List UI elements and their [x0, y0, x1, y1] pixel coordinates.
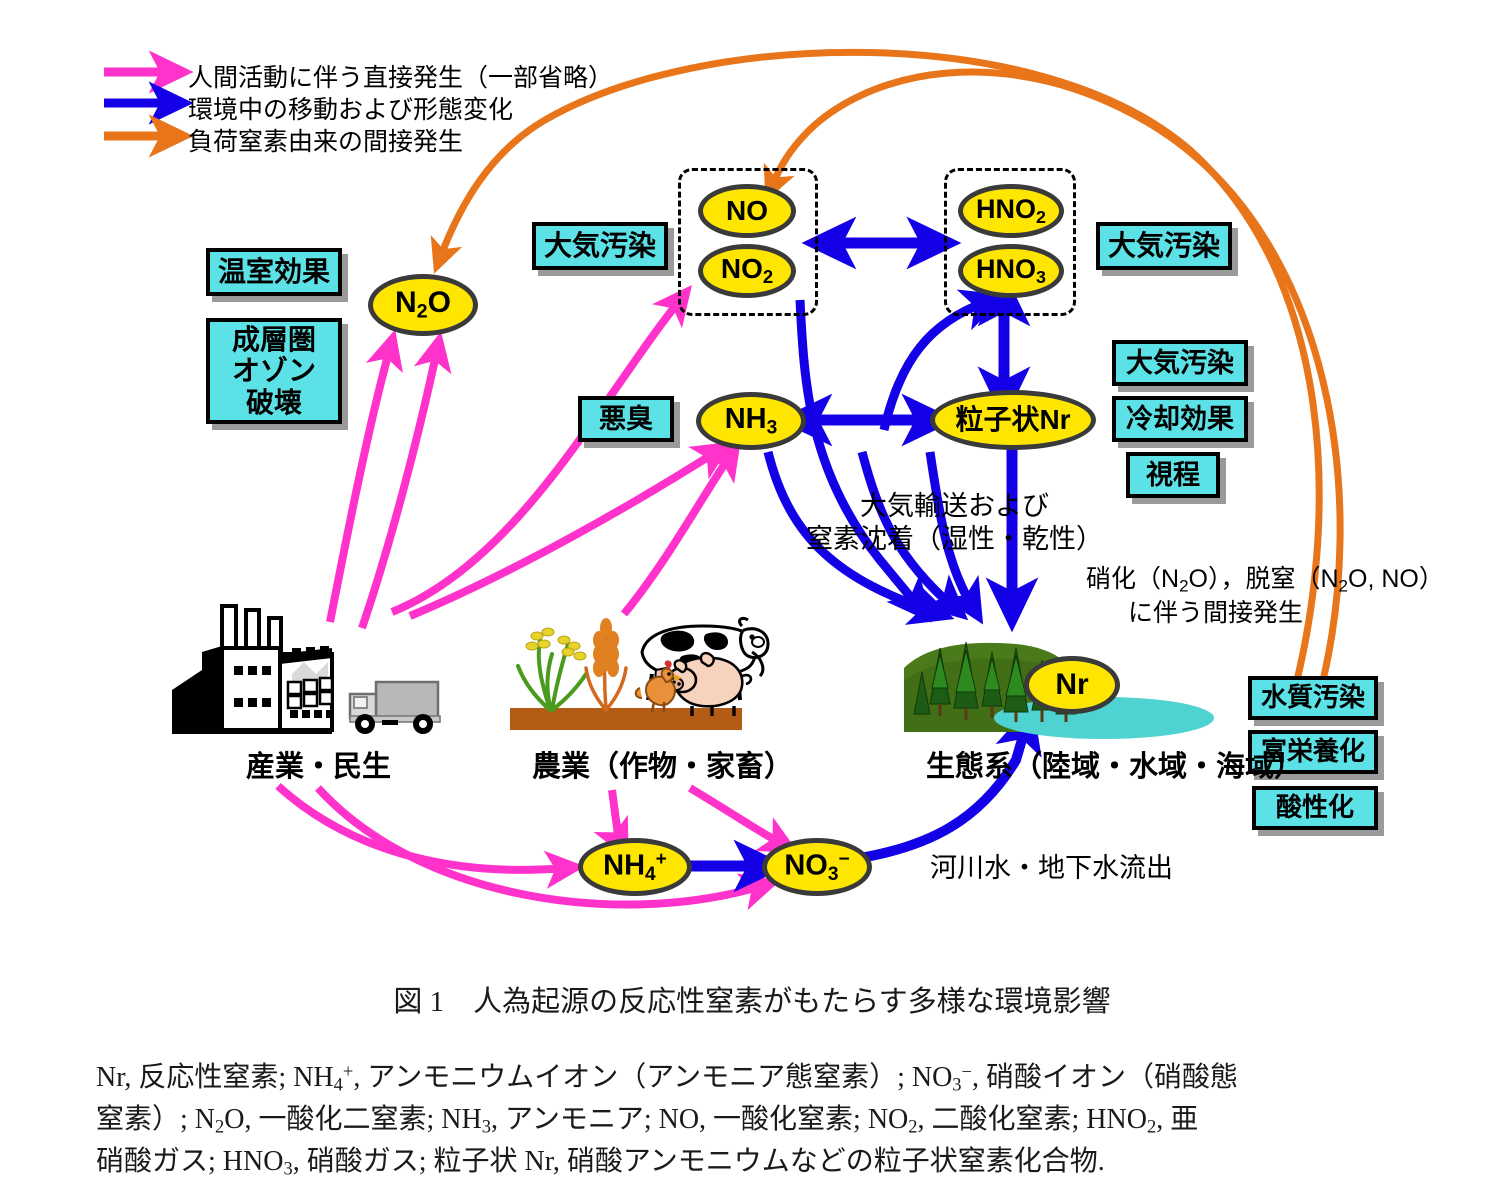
source-label-industry: 産業・民生 — [246, 750, 391, 785]
node-particulate-nr-label: 粒子状Nr — [955, 406, 1070, 434]
node-no3[interactable]: NO3− — [762, 838, 872, 896]
node-hno3[interactable]: HNO3 — [958, 244, 1064, 298]
node-no[interactable]: NO — [698, 184, 796, 238]
label-indirect-emission-line2: に伴う間接発生 — [1128, 598, 1303, 629]
node-nr[interactable]: Nr — [1024, 656, 1120, 714]
figure-canvas: 人間活動に伴う直接発生（一部省略） 環境中の移動および形態変化 負荷窒素由来の間… — [0, 0, 1504, 1200]
source-label-ecosystem: 生態系（陸域・水域・海域） — [926, 750, 1303, 785]
node-hno3-label: HNO3 — [976, 256, 1046, 287]
node-particulate-nr[interactable]: 粒子状Nr — [930, 390, 1096, 450]
legend-label-transfer: 環境中の移動および形態変化 — [188, 90, 513, 126]
effect-ozone-depletion: 成層圏 オゾン 破壊 — [206, 318, 342, 424]
effect-acidification: 酸性化 — [1252, 786, 1378, 830]
footnote-line-3: 硝酸ガス; HNO3, 硝酸ガス; 粒子状 Nr, 硝酸アンモニウムなどの粒子状… — [96, 1142, 1105, 1183]
node-nh4-label: NH4+ — [603, 850, 667, 884]
label-river-runoff: 河川水・地下水流出 — [930, 852, 1173, 885]
node-nh3-label: NH3 — [725, 405, 778, 437]
effect-air-pollution-nox: 大気汚染 — [532, 222, 668, 270]
node-no2-label: NO2 — [721, 255, 773, 287]
node-n2o[interactable]: N2O — [368, 274, 478, 336]
node-no2[interactable]: NO2 — [698, 244, 796, 298]
effect-greenhouse: 温室効果 — [206, 248, 342, 296]
effect-air-pollution-particle: 大気汚染 — [1112, 340, 1248, 386]
source-label-agriculture: 農業（作物・家畜） — [532, 750, 793, 785]
node-nh3[interactable]: NH3 — [696, 392, 806, 450]
effect-water-pollution: 水質汚染 — [1248, 676, 1378, 720]
label-atmospheric-deposition: 大気輸送および 窒素沈着（湿性・乾性） — [806, 490, 1103, 556]
node-no-label: NO — [726, 197, 768, 225]
node-no3-label: NO3− — [784, 850, 849, 884]
figure-caption: 図 1 人為起源の反応性窒素がもたらす多様な環境影響 — [0, 978, 1504, 1020]
legend-label-direct: 人間活動に伴う直接発生（一部省略） — [188, 58, 613, 94]
effect-odor: 悪臭 — [578, 396, 674, 442]
node-hno2-label: HNO2 — [976, 196, 1046, 227]
node-nr-label: Nr — [1055, 670, 1088, 700]
effect-air-pollution-hnox: 大気汚染 — [1096, 222, 1232, 270]
factory-icon — [164, 598, 454, 744]
label-indirect-emission-line1: 硝化（N2O），脱窒（N2O, NO） — [1086, 564, 1444, 597]
node-hno2[interactable]: HNO2 — [958, 184, 1064, 238]
node-n2o-label: N2O — [395, 288, 451, 322]
footnote-line-2: 窒素）; N2O, 一酸化二窒素; NH3, アンモニア; NO, 一酸化窒素;… — [96, 1100, 1198, 1141]
legend-label-indirect: 負荷窒素由来の間接発生 — [188, 122, 463, 158]
node-nh4[interactable]: NH4+ — [578, 838, 692, 896]
legend-arrows — [104, 72, 172, 136]
effect-cooling: 冷却効果 — [1112, 396, 1248, 442]
farm-icon — [506, 604, 774, 744]
footnote-line-1: Nr, 反応性窒素; NH4+, アンモニウムイオン（アンモニア態窒素）; NO… — [96, 1058, 1238, 1099]
effect-visibility: 視程 — [1126, 452, 1220, 498]
